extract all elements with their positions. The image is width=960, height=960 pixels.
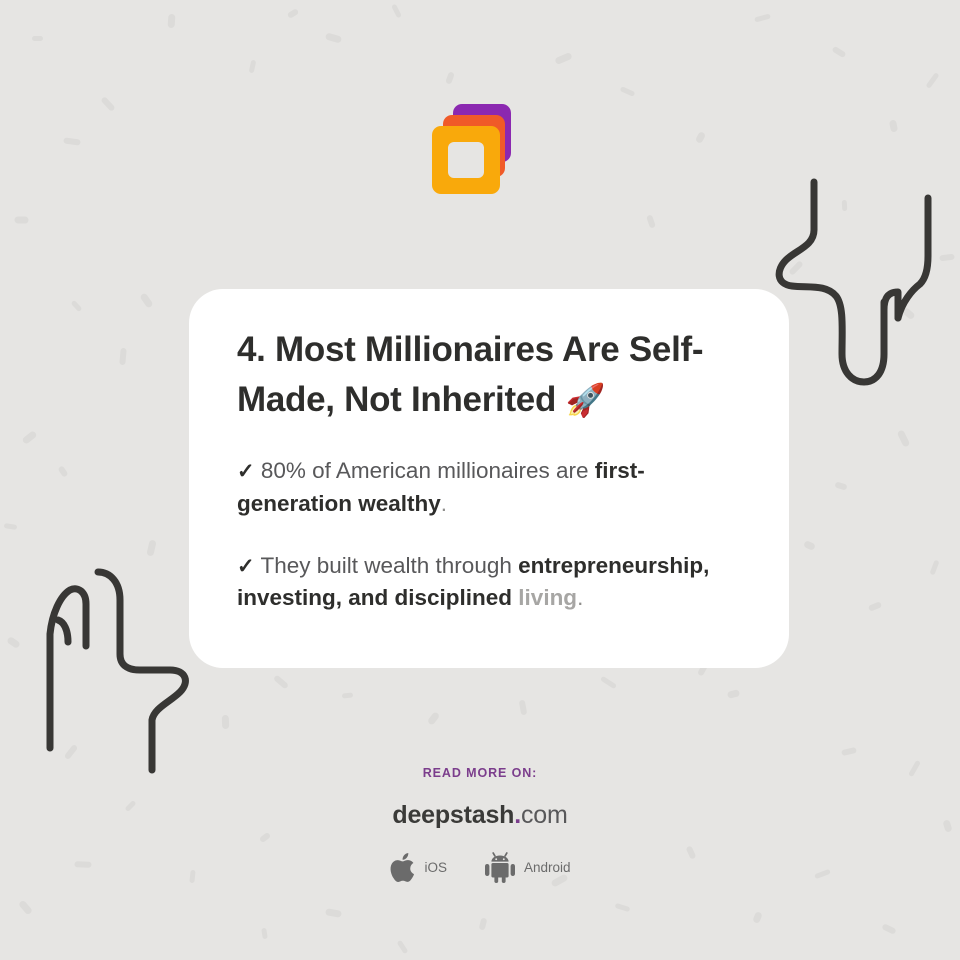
pointing-hand-icon-bottom-left (22, 558, 202, 778)
bullet-1-lead: 80% of American millionaires are (255, 458, 595, 483)
android-icon (485, 852, 515, 883)
card-title: 4. Most Millionaires Are Self-Made, Not … (237, 325, 741, 424)
logo-center-hole (448, 142, 484, 178)
card-bullet-2: ✓ They built wealth through entrepreneur… (237, 550, 741, 615)
bullet-2-faded: living (518, 585, 577, 610)
site-name[interactable]: deepstash.com (0, 801, 960, 830)
ios-label: iOS (424, 860, 447, 875)
check-icon: ✓ (237, 460, 255, 483)
rocket-icon: 🚀 (565, 382, 605, 418)
apple-icon (389, 852, 415, 883)
store-badges: iOS Android (0, 852, 960, 883)
read-more-label: READ MORE ON: (0, 766, 960, 780)
bullet-2-tail: . (577, 585, 583, 610)
card-bullet-1: ✓ 80% of American millionaires are first… (237, 455, 741, 520)
footer: READ MORE ON: deepstash.com iOS (0, 766, 960, 883)
ios-badge[interactable]: iOS (389, 852, 447, 883)
site-name-dot: . (514, 801, 521, 829)
logo-layer-front (432, 126, 500, 194)
site-name-main: deepstash (392, 801, 514, 829)
content-card: 4. Most Millionaires Are Self-Made, Not … (189, 289, 789, 668)
site-name-tld: com (521, 801, 568, 829)
bullet-2-lead: They built wealth through (255, 553, 519, 578)
deepstash-logo (429, 104, 517, 196)
bullet-1-tail: . (441, 491, 447, 516)
card-title-text: 4. Most Millionaires Are Self-Made, Not … (237, 330, 703, 419)
android-badge[interactable]: Android (485, 852, 571, 883)
check-icon: ✓ (237, 555, 255, 578)
android-label: Android (524, 860, 571, 875)
